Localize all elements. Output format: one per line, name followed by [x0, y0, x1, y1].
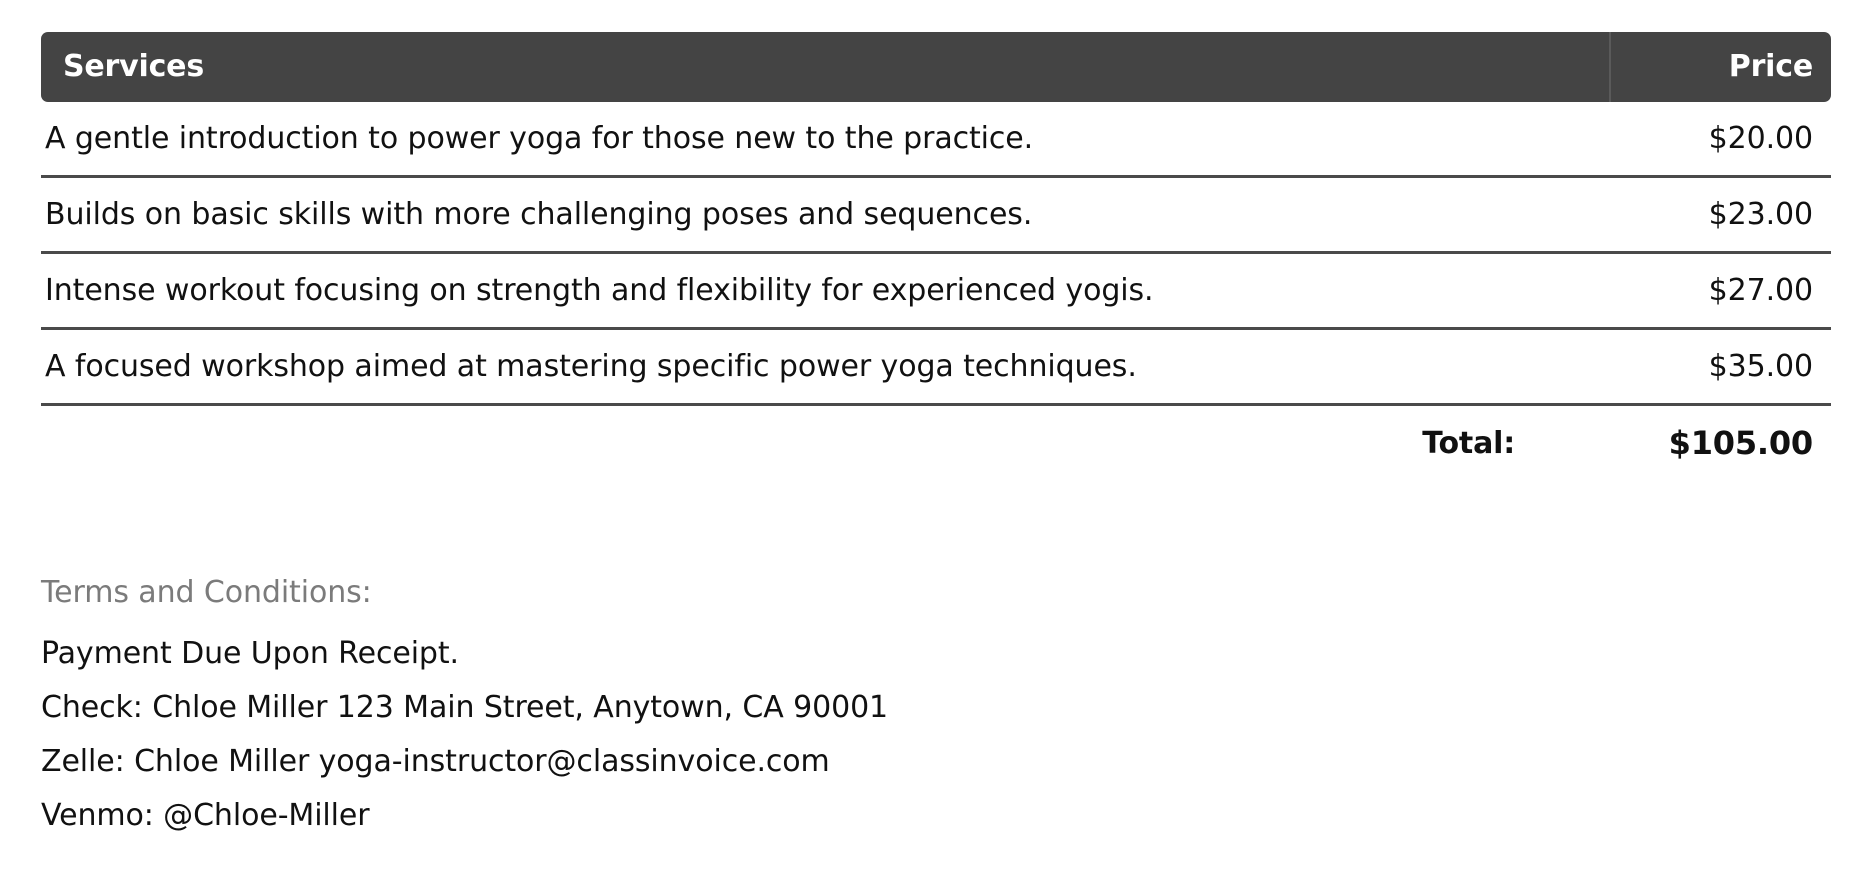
- invoice-document: Services Price A gentle introduction to …: [0, 0, 1868, 870]
- service-price: $35.00: [1611, 349, 1831, 384]
- terms-and-conditions-section: Terms and Conditions: Payment Due Upon R…: [41, 575, 1831, 843]
- table-row: Builds on basic skills with more challen…: [41, 178, 1831, 254]
- service-description: A gentle introduction to power yoga for …: [41, 121, 1611, 156]
- table-header-row: Services Price: [41, 32, 1831, 102]
- column-header-services: Services: [41, 32, 1611, 102]
- service-description: Builds on basic skills with more challen…: [41, 197, 1611, 232]
- total-row: Total: $105.00: [41, 406, 1831, 480]
- terms-line-check: Check: Chloe Miller 123 Main Street, Any…: [41, 681, 1831, 735]
- terms-title: Terms and Conditions:: [41, 575, 1831, 610]
- table-row: A gentle introduction to power yoga for …: [41, 102, 1831, 178]
- service-price: $27.00: [1611, 273, 1831, 308]
- terms-line-zelle: Zelle: Chloe Miller yoga-instructor@clas…: [41, 735, 1831, 789]
- column-header-price: Price: [1611, 32, 1831, 102]
- service-description: A focused workshop aimed at mastering sp…: [41, 349, 1611, 384]
- total-amount: $105.00: [1611, 424, 1831, 462]
- services-price-table: Services Price A gentle introduction to …: [41, 32, 1831, 480]
- table-row: Intense workout focusing on strength and…: [41, 254, 1831, 330]
- service-price: $23.00: [1611, 197, 1831, 232]
- service-price: $20.00: [1611, 121, 1831, 156]
- total-label: Total:: [1422, 426, 1611, 461]
- service-description: Intense workout focusing on strength and…: [41, 273, 1611, 308]
- table-row: A focused workshop aimed at mastering sp…: [41, 330, 1831, 406]
- terms-line-venmo: Venmo: @Chloe-Miller: [41, 789, 1831, 843]
- terms-line-payment-due: Payment Due Upon Receipt.: [41, 627, 1831, 681]
